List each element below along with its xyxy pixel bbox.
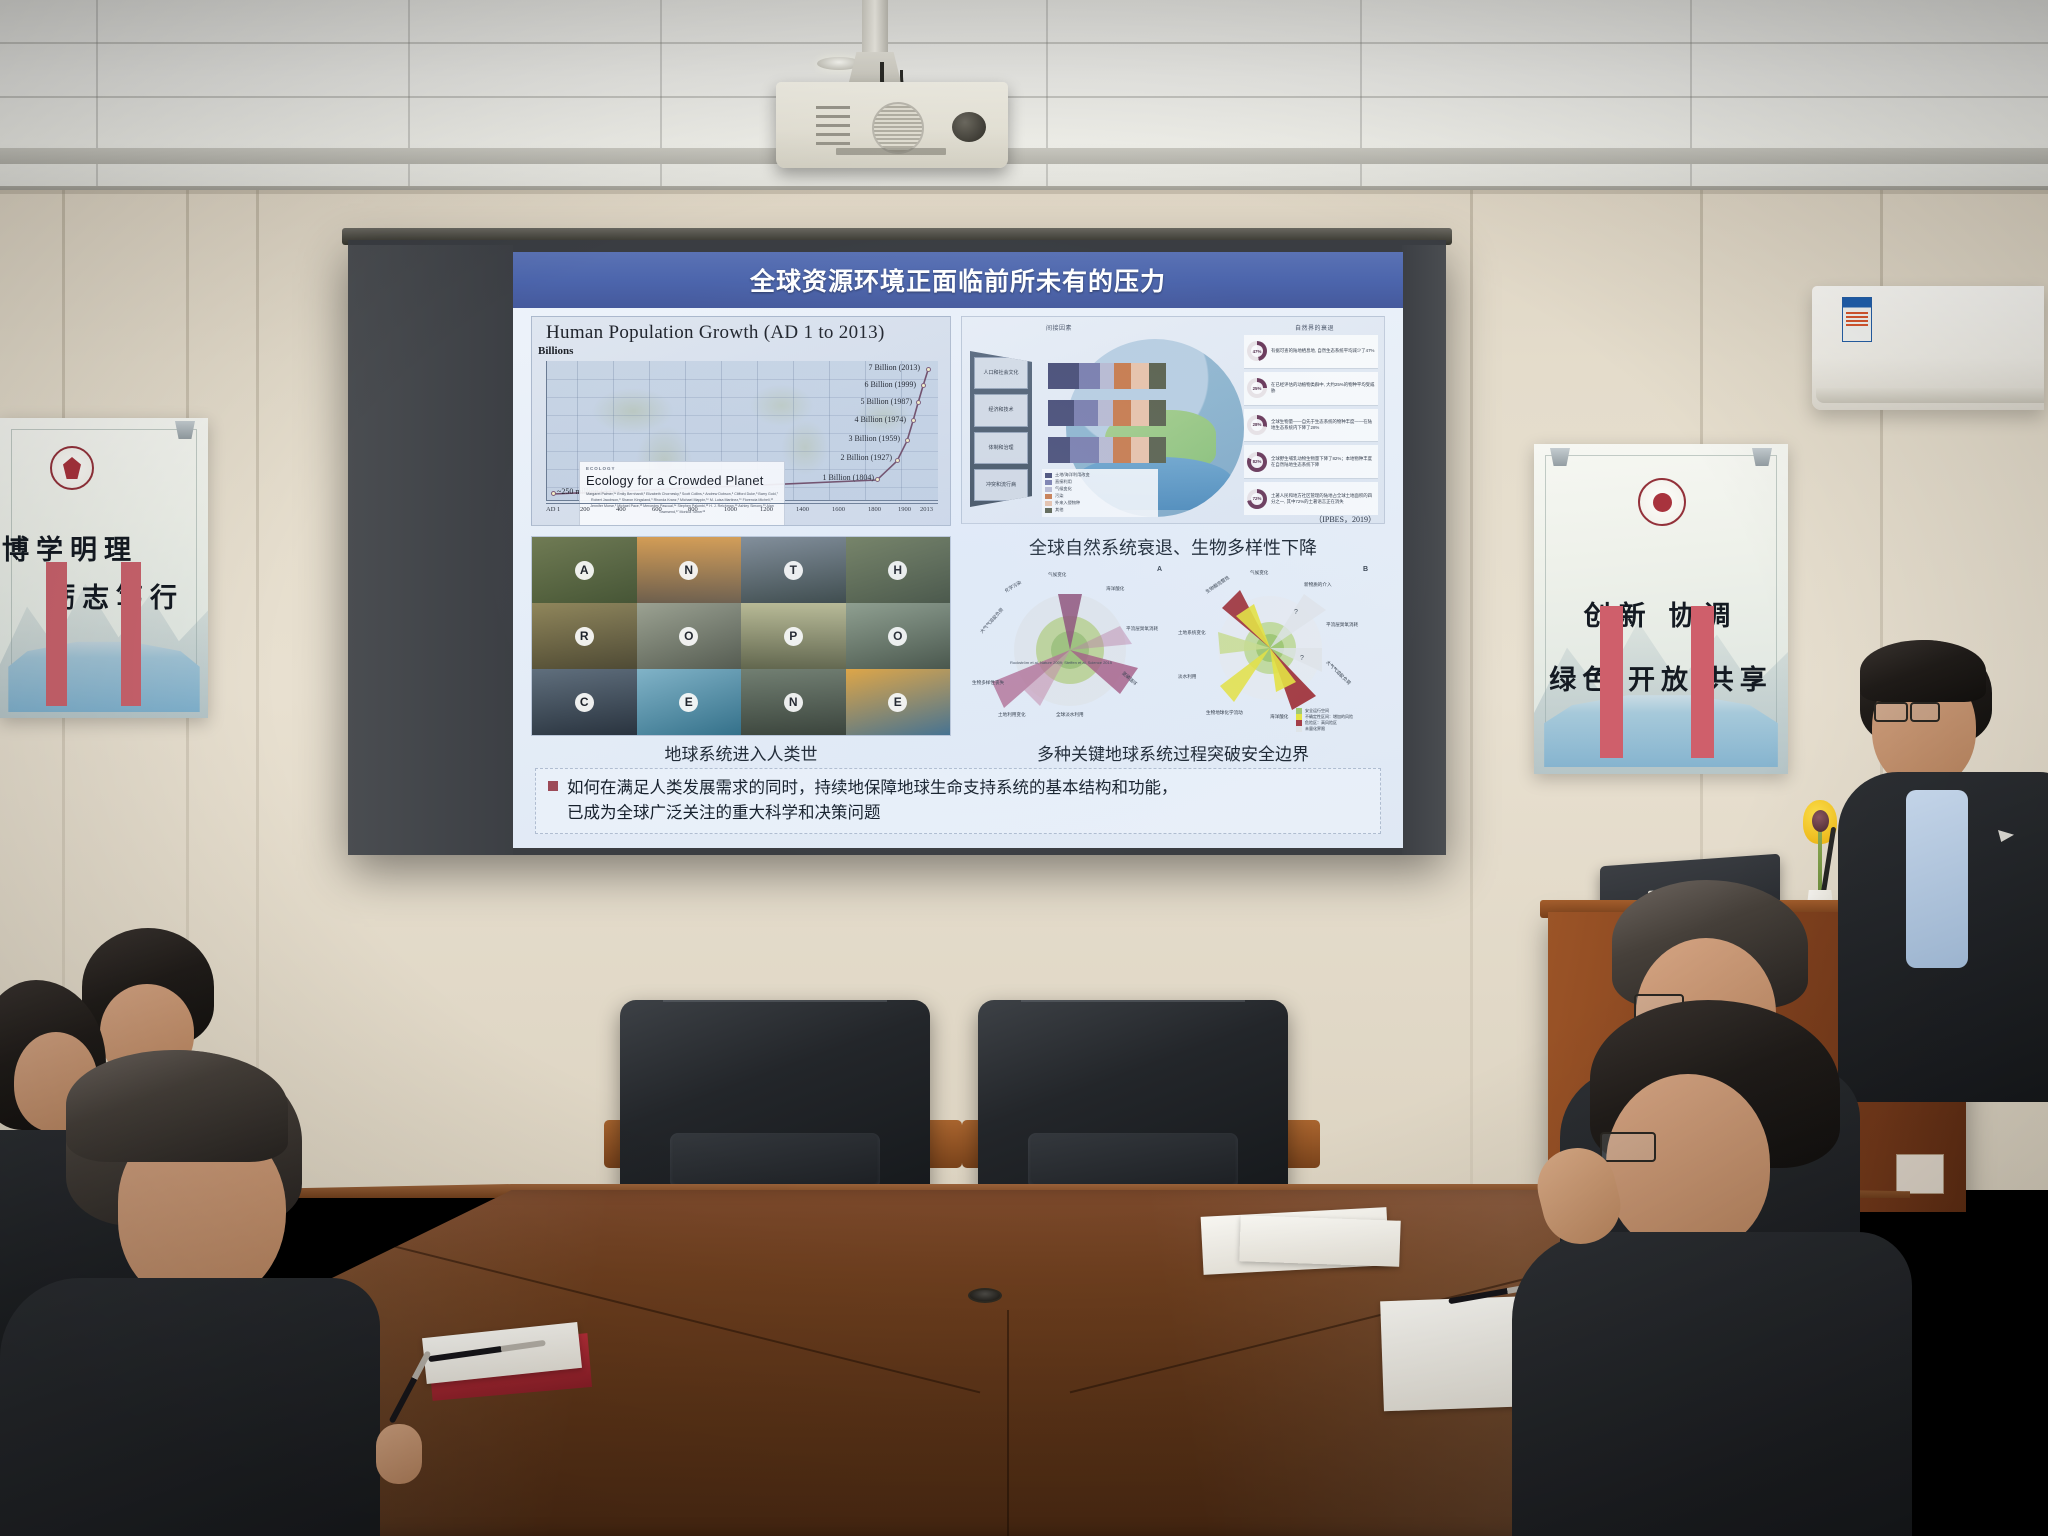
ipbes-legend: 土地/海洋利用改变 直接利用 气候变化 污染 外来入侵物种 其他 xyxy=(1042,469,1158,517)
xtick-10: 1900 xyxy=(898,506,911,513)
planetary-boundaries-title: 全球自然系统衰退、生物多样性下降 xyxy=(961,534,1385,560)
document-center-2[interactable] xyxy=(1239,1215,1401,1267)
population-chart-title: Human Population Growth (AD 1 to 2013) xyxy=(546,322,885,344)
mosaic-letter-10: N xyxy=(784,693,803,712)
presenter-glasses-right xyxy=(1910,702,1940,722)
projector-ports xyxy=(816,106,850,146)
pb-a-label-0: 气候变化 xyxy=(1048,572,1066,578)
slide-title-bar: 全球资源环境正面临前所未有的压力 xyxy=(513,252,1403,308)
presenter-hair-top xyxy=(1860,640,1986,702)
pb-legend: 安全运行空间 不确定性区间：增加的风险 危险区：高风险区 未量化界限 xyxy=(1296,708,1382,732)
data-point-1927 xyxy=(895,458,900,463)
legend-swatch-1 xyxy=(1045,480,1052,485)
bullet-line-1: 如何在满足人类发展需求的同时，持续地保障地球生命支持系统的基本结构和功能， xyxy=(567,779,1178,797)
impact-text-4: 土著人民和地方社区管理的陆地占全球土地面积的四分之一, 其中72%的土著语言正在… xyxy=(1271,493,1375,505)
projector-vent-icon xyxy=(872,102,924,154)
mosaic-letter-5: O xyxy=(679,627,698,646)
ipbes-header-right: 自然界的衰退 xyxy=(1295,323,1334,332)
legend-label-2: 气候变化 xyxy=(1055,486,1072,492)
legend-swatch-4 xyxy=(1045,501,1052,506)
driver-bar-marine xyxy=(1048,437,1166,463)
mosaic-letter-4: R xyxy=(575,627,594,646)
mosaic-letter-7: O xyxy=(888,627,907,646)
impact-item-2: 28% 全球生物量——自先于生态系统的物种丰度——在陆地生态系统内下降了28% xyxy=(1244,409,1378,443)
right-banner-motto-1: 创新 协调 xyxy=(1534,594,1788,633)
ipbes-driver-bars xyxy=(1048,363,1166,474)
pb-b-label-5: 生物地球化学流动 xyxy=(1206,710,1243,716)
data-point-1999 xyxy=(921,383,926,388)
slide-title: 全球资源环境正面临前所未有的压力 xyxy=(750,262,1166,298)
projector xyxy=(776,82,1008,168)
xtick-4: 800 xyxy=(688,506,698,513)
right-wall-banner: 创新 协调 绿色 开放 共享 xyxy=(1534,444,1788,774)
ecology-kicker: ECOLOGY xyxy=(586,466,778,471)
data-label-6b: 6 Billion (1999) xyxy=(864,380,916,389)
donut-pct-4: 72% xyxy=(1251,493,1263,505)
screen-matte-left xyxy=(348,245,513,855)
presenter-shirt-front xyxy=(1906,790,1968,968)
attendee-right-front-head xyxy=(1606,1074,1770,1254)
data-point-2013 xyxy=(926,367,931,372)
driver-bar-freshwater xyxy=(1048,400,1166,426)
xtick-11: 2013 xyxy=(920,506,933,513)
mosaic-letter-6: P xyxy=(784,627,803,646)
anthropocene-caption: 地球系统进入人类世 xyxy=(531,740,951,765)
donut-icon-1: 25% xyxy=(1247,378,1267,398)
data-label-2b: 2 Billion (1927) xyxy=(840,453,892,462)
legend-label-3: 污染 xyxy=(1055,493,1063,499)
pb-b-label-7: 土地系统变化 xyxy=(1178,630,1206,636)
impact-text-0: 有据可查的陆地栖息地, 自然生态系统平均减少了47% xyxy=(1271,348,1374,354)
bullet-square-icon xyxy=(548,781,558,791)
slide-content: 全球资源环境正面临前所未有的压力 Human Population Growth… xyxy=(513,252,1403,848)
pb-b-label-1: 新物质的介入 xyxy=(1304,582,1332,588)
pb-b-label-0: 气候变化 xyxy=(1250,570,1268,576)
mosaic-letter-11: E xyxy=(888,693,907,712)
ipbes-drivers-panel: 间接因素 自然界的衰退 人口和社会文化 经济和技术 体制和治理 冲突和流行病 xyxy=(961,316,1385,524)
population-chart-ylabel: Billions xyxy=(538,345,573,357)
presenter-glasses xyxy=(1874,702,1908,722)
attendee-left-front-jacket xyxy=(0,1278,380,1536)
data-label-7b: 7 Billion (2013) xyxy=(868,363,920,372)
attendee-left-hand xyxy=(376,1424,422,1484)
attendee-right-front-glasses xyxy=(1600,1132,1656,1162)
driver-bar-terrestrial xyxy=(1048,363,1166,389)
donut-icon-3: 82% xyxy=(1247,452,1267,472)
xtick-7: 1400 xyxy=(796,506,809,513)
donut-icon-4: 72% xyxy=(1247,489,1267,509)
pb-legend-swatch-3 xyxy=(1296,726,1302,732)
projector-brand-label xyxy=(836,148,946,155)
population-x-axis: AD 1 200 400 600 800 1000 1200 1400 1600… xyxy=(546,503,938,517)
left-wall-banner: 博学明理 砺志笃行 xyxy=(0,418,208,718)
pb-b-label-6: 淡水利用 xyxy=(1178,674,1196,680)
slide-bullet-text: 如何在满足人类发展需求的同时，持续地保障地球生命支持系统的基本结构和功能， 已成… xyxy=(567,776,1178,826)
xtick-6: 1200 xyxy=(760,506,773,513)
planetary-boundaries-charts: A 气候变化 海洋酸化 平流层臭氧消耗 氮磷循环 全球淡水利用 土地利用变化 xyxy=(961,562,1385,734)
mosaic-letter-1: N xyxy=(679,561,698,580)
mosaic-letter-9: E xyxy=(679,693,698,712)
impact-item-1: 25% 在已经评估的动植物类群中, 大约25%的物种平均受威胁 xyxy=(1244,372,1378,406)
mosaic-letter-8: C xyxy=(575,693,594,712)
legend-label-5: 其他 xyxy=(1055,507,1063,513)
pb-chart-b: B ? ? 气候变化 新物质的介入 xyxy=(1176,564,1376,732)
impact-item-3: 82% 全球野生哺乳动物生物量下降了82%；本地物种丰度在自然陆地生态系统下降 xyxy=(1244,445,1378,479)
driver-box-0: 人口和社会文化 xyxy=(974,357,1028,389)
xtick-8: 1600 xyxy=(832,506,845,513)
mosaic-letter-2: T xyxy=(784,561,803,580)
table-cable-grommet xyxy=(968,1288,1002,1303)
ipbes-citation: （IPBES，2019） xyxy=(1314,514,1376,524)
xtick-2: 400 xyxy=(616,506,626,513)
ceiling-beam xyxy=(0,148,2048,164)
donut-pct-3: 82% xyxy=(1251,456,1263,468)
legend-swatch-0 xyxy=(1045,473,1052,478)
energy-label-icon xyxy=(1842,297,1872,342)
attendee-left-front xyxy=(56,1050,356,1450)
impact-text-3: 全球野生哺乳动物生物量下降了82%；本地物种丰度在自然陆地生态系统下降 xyxy=(1271,456,1375,468)
legend-label-1: 直接利用 xyxy=(1055,479,1072,485)
donut-pct-0: 47% xyxy=(1251,345,1263,357)
bullet-line-2: 已成为全球广泛关注的重大科学和决策问题 xyxy=(567,804,881,822)
ceiling xyxy=(0,0,2048,205)
xtick-0: AD 1 xyxy=(546,506,560,513)
ipbes-header-left: 间接因素 xyxy=(1046,323,1072,332)
svg-text:?: ? xyxy=(1300,655,1304,662)
campus-pillar-b xyxy=(1691,606,1714,758)
left-banner-motto-1: 博学明理 xyxy=(0,528,208,567)
data-label-5b: 5 Billion (1987) xyxy=(860,397,912,406)
pb-citation: Rockström et al, Nature 2009; Steffen et… xyxy=(1010,660,1112,665)
ipbes-impact-list: 47% 有据可查的陆地栖息地, 自然生态系统平均减少了47% 25% 在已经评估… xyxy=(1244,335,1378,515)
data-point-ad1 xyxy=(551,491,556,496)
legend-swatch-2 xyxy=(1045,487,1052,492)
impact-item-4: 72% 土著人民和地方社区管理的陆地占全球土地面积的四分之一, 其中72%的土著… xyxy=(1244,482,1378,515)
xtick-9: 1800 xyxy=(868,506,881,513)
anthropocene-mosaic: A N T H R O P O C E N E xyxy=(531,536,951,736)
campus-pillar-a xyxy=(1600,606,1623,758)
pb-legend-label-3: 未量化界限 xyxy=(1305,726,1325,732)
donut-pct-1: 25% xyxy=(1251,382,1263,394)
impact-text-2: 全球生物量——自先于生态系统的物种丰度——在陆地生态系统内下降了28% xyxy=(1271,419,1375,431)
campus-pillar-left xyxy=(46,562,67,706)
pb-a-label-4: 全球淡水利用 xyxy=(1056,712,1084,718)
data-point-1959 xyxy=(905,438,910,443)
driver-box-1: 经济和技术 xyxy=(974,394,1028,426)
mosaic-letter-3: H xyxy=(888,561,907,580)
planetary-boundaries-caption: 多种关键地球系统过程突破安全边界 xyxy=(961,740,1385,765)
projector-lens-icon xyxy=(952,112,986,142)
xtick-3: 600 xyxy=(652,506,662,513)
mosaic-letter-0: A xyxy=(575,561,594,580)
ecology-headline: Ecology for a Crowded Planet xyxy=(586,473,778,488)
data-label-1b: 1 Billion (1804) xyxy=(822,473,874,482)
air-conditioner xyxy=(1812,286,2044,410)
pb-b-label-4: 海洋酸化 xyxy=(1270,714,1288,720)
slide-bullet-box: 如何在满足人类发展需求的同时，持续地保障地球生命支持系统的基本结构和功能， 已成… xyxy=(535,768,1381,834)
population-plot-area: 7 Billion (2013) 6 Billion (1999) 5 Bill… xyxy=(546,361,938,501)
legend-label-0: 土地/海洋利用改变 xyxy=(1055,472,1090,478)
donut-icon-0: 47% xyxy=(1247,341,1267,361)
university-crest-icon xyxy=(50,446,94,490)
legend-label-4: 外来入侵物种 xyxy=(1055,500,1080,506)
pb-a-label-1: 海洋酸化 xyxy=(1106,586,1124,592)
xtick-5: 1000 xyxy=(724,506,737,513)
svg-text:?: ? xyxy=(1294,609,1298,616)
pb-a-label-5: 土地利用变化 xyxy=(998,712,1026,718)
driver-box-3: 冲突和流行病 xyxy=(974,469,1028,501)
legend-swatch-3 xyxy=(1045,494,1052,499)
data-point-1974 xyxy=(911,418,916,423)
left-banner-motto-2: 砺志笃行 xyxy=(0,576,208,615)
ac-vent-icon xyxy=(1816,388,2044,403)
screen-matte-right xyxy=(1402,245,1446,855)
pb-a-label-6: 生物多样性丧失 xyxy=(972,680,1004,686)
pb-chart-a: A 气候变化 海洋酸化 平流层臭氧消耗 氮磷循环 全球淡水利用 土地利用变化 xyxy=(970,564,1170,732)
donut-pct-2: 28% xyxy=(1251,419,1263,431)
impact-text-1: 在已经评估的动植物类群中, 大约25%的物种平均受威胁 xyxy=(1271,382,1375,394)
data-point-1987 xyxy=(916,400,921,405)
attendee-right-front-jacket xyxy=(1512,1232,1912,1536)
institute-crest-icon xyxy=(1638,478,1686,526)
data-point-1804 xyxy=(875,477,880,482)
pb-b-label-2: 平流层臭氧消耗 xyxy=(1326,622,1358,628)
data-label-3b: 3 Billion (1959) xyxy=(848,434,900,443)
donut-icon-2: 28% xyxy=(1247,415,1267,435)
population-chart-panel: Human Population Growth (AD 1 to 2013) B… xyxy=(531,316,951,526)
campus-pillar-right xyxy=(121,562,142,706)
data-label-4b: 4 Billion (1974) xyxy=(854,415,906,424)
legend-swatch-5 xyxy=(1045,508,1052,513)
empty-chair-right[interactable] xyxy=(978,1000,1288,1208)
pb-a-label-2: 平流层臭氧消耗 xyxy=(1126,626,1158,632)
attendee-left-front-hair-top xyxy=(66,1050,288,1162)
xtick-1: 200 xyxy=(580,506,590,513)
ipbes-indirect-drivers: 人口和社会文化 经济和技术 体制和治理 冲突和流行病 xyxy=(970,351,1032,507)
impact-item-0: 47% 有据可查的陆地栖息地, 自然生态系统平均减少了47% xyxy=(1244,335,1378,369)
right-banner-motto-2: 绿色 开放 共享 xyxy=(1534,658,1788,697)
conference-room-scene: 博学明理 砺志笃行 创新 协调 绿色 开放 共享 全球资源环境正面临前所未有的压… xyxy=(0,0,2048,1536)
empty-chair-left[interactable] xyxy=(620,1000,930,1208)
driver-box-2: 体制和治理 xyxy=(974,432,1028,464)
